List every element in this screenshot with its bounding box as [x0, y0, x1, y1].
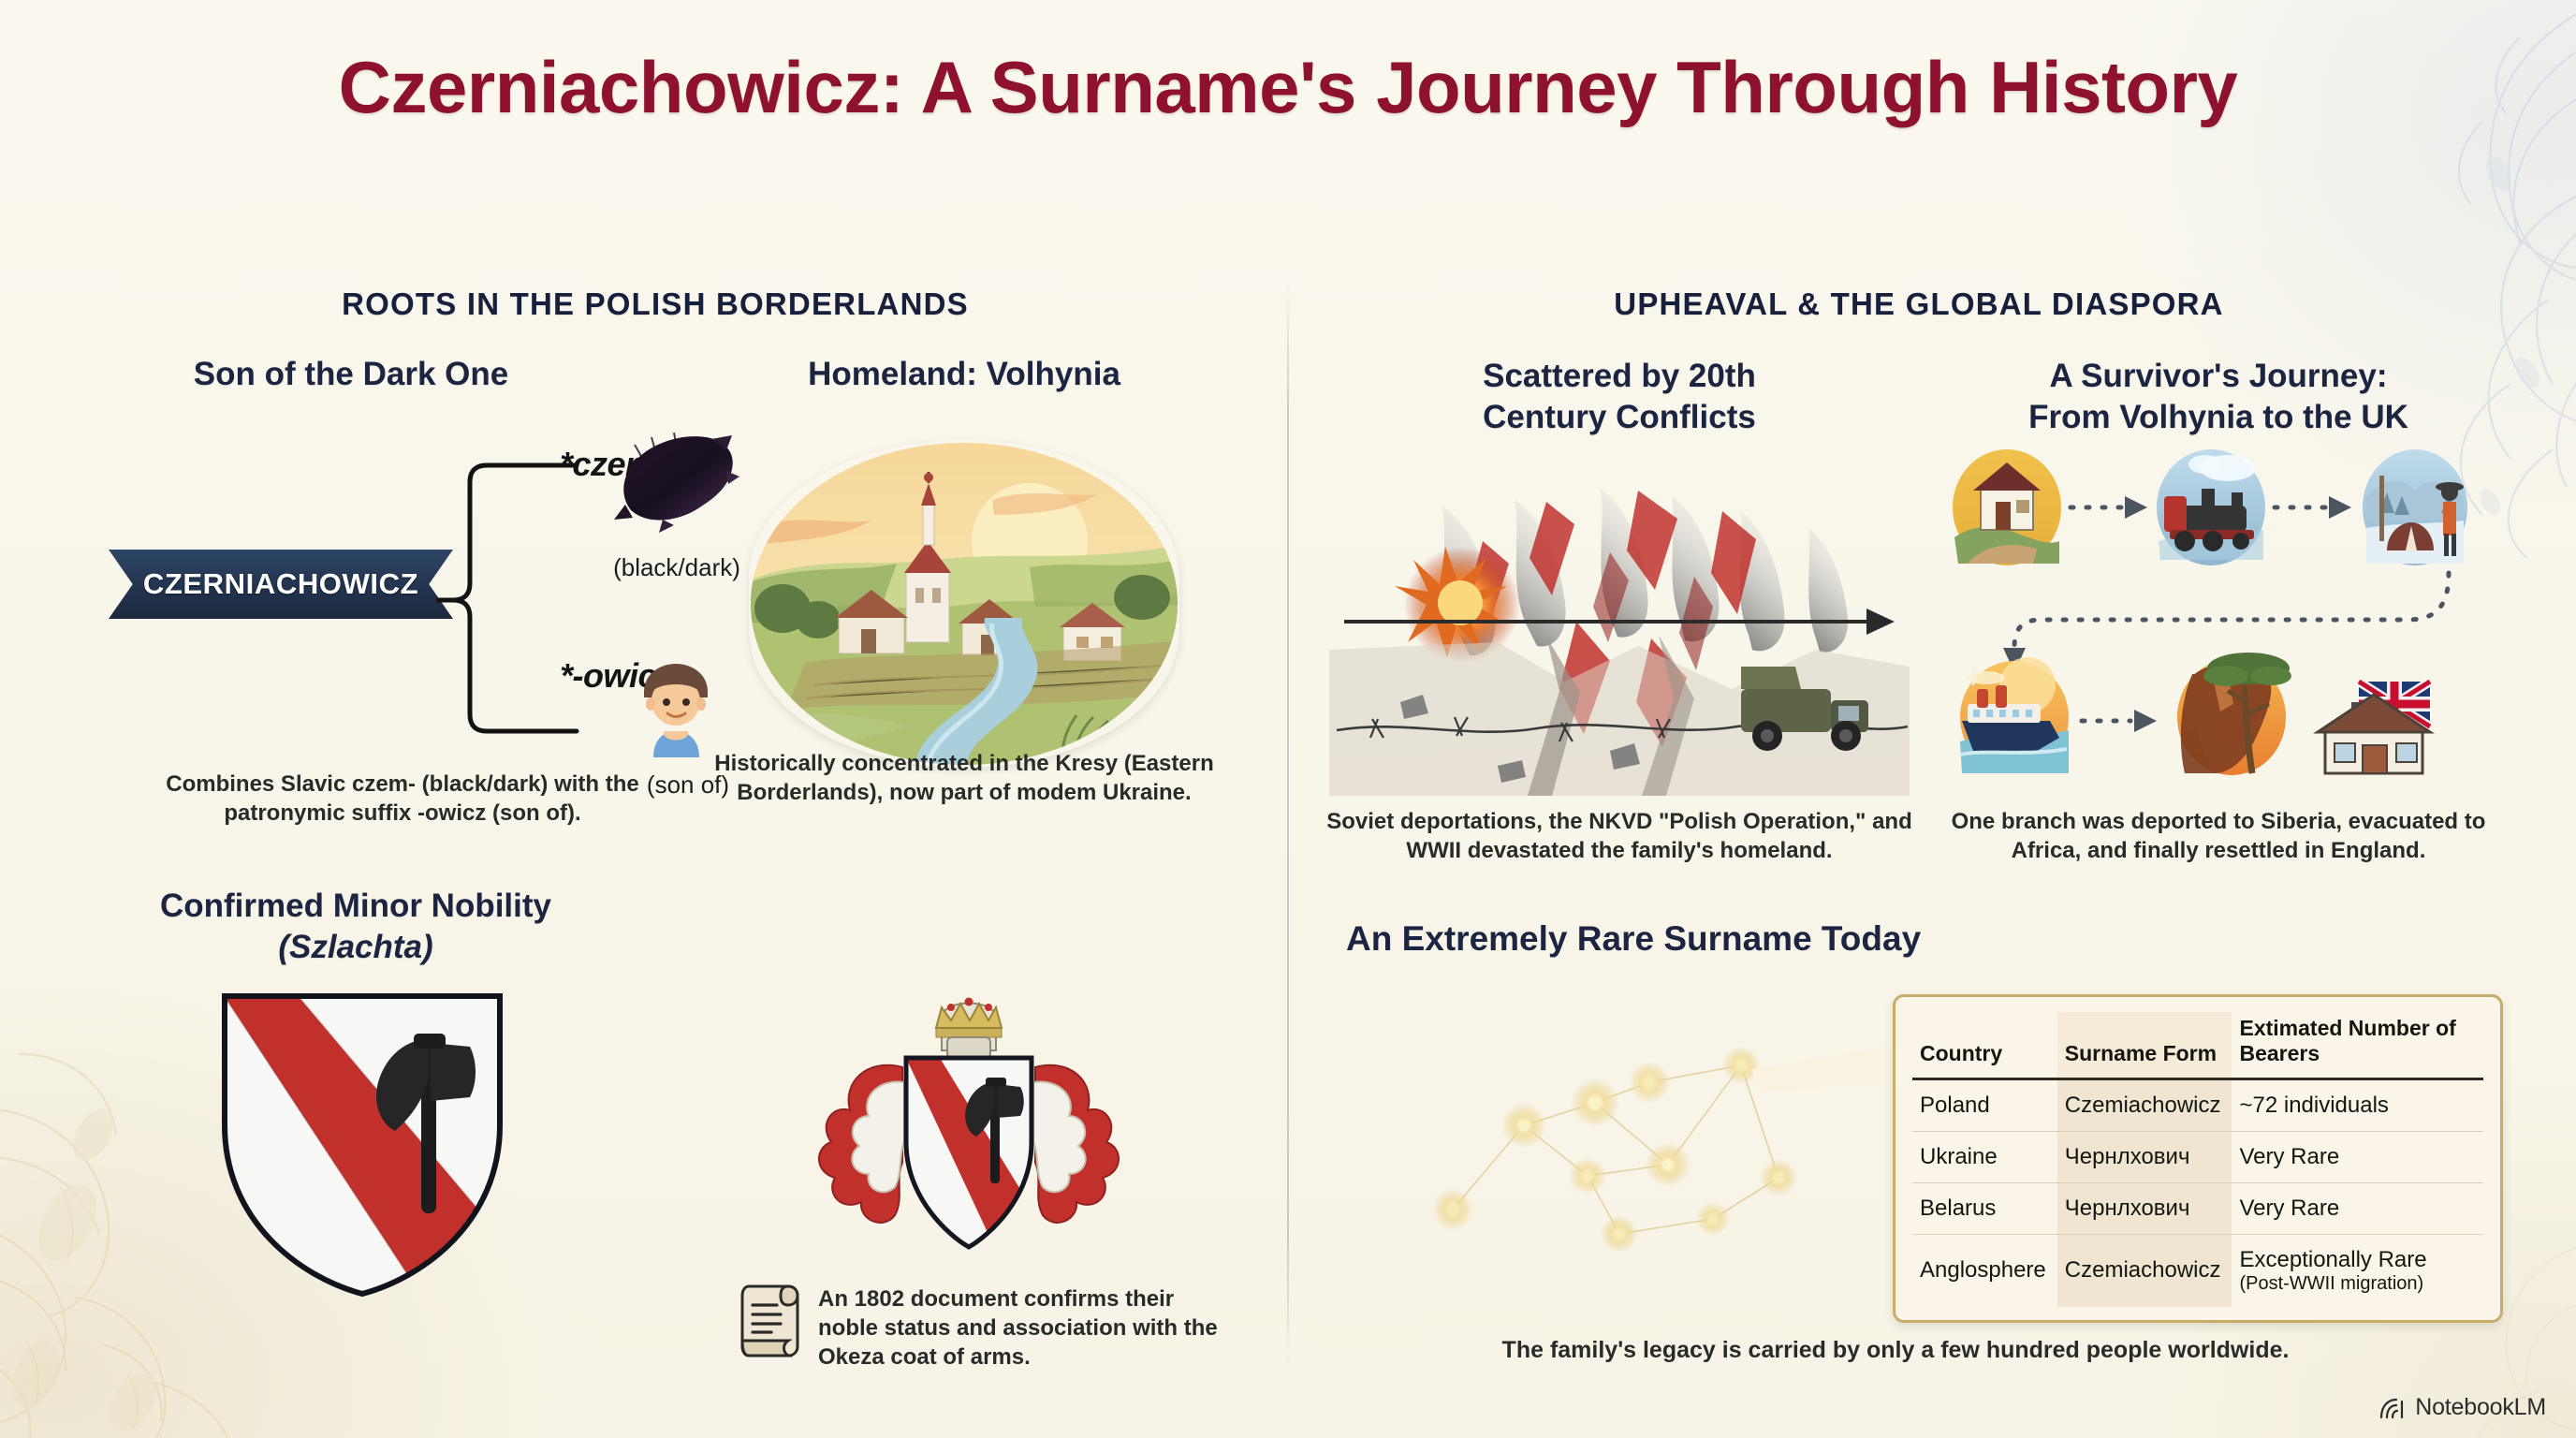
cell-bearers: ~72 individuals	[2232, 1079, 2483, 1132]
cell-bearers: Exceptionally Rare (Post-WWII migration)	[2232, 1234, 2483, 1307]
notebooklm-icon	[2378, 1396, 2407, 1420]
notebooklm-label: NotebookLM	[2415, 1394, 2546, 1421]
subheading-nobility-line2: (Szlachta)	[278, 929, 432, 965]
column-header-bearers: Extimated Number of Bearers	[2232, 1012, 2483, 1079]
cell-country: Ukraine	[1912, 1132, 2057, 1183]
subheading-survivor-line2: From Volhynia to the UK	[2028, 399, 2408, 435]
notebooklm-watermark: NotebookLM	[2378, 1394, 2546, 1421]
cell-country: Belarus	[1912, 1182, 2057, 1234]
ocean-liner-icon	[1960, 657, 2069, 773]
scroll-document-icon	[739, 1281, 805, 1359]
survivor-caption: One branch was deported to Siberia, evac…	[1928, 807, 2509, 865]
volhynia-village-illustration	[749, 440, 1179, 768]
cell-country: Poland	[1912, 1079, 2057, 1132]
table-row: Ukraine Чернлхович Very Rare	[1912, 1132, 2483, 1183]
column-header-surname-form: Surname Form	[2057, 1012, 2232, 1079]
siberia-camp-icon	[2363, 449, 2467, 565]
journey-arrow-wrap	[2014, 573, 2449, 648]
rarity-constellation-graphic	[1404, 1002, 1928, 1283]
okeza-shield-illustration	[208, 985, 517, 1303]
homeland-caption: Historically concentrated in the Kresy (…	[693, 749, 1236, 807]
cell-bearers: Very Rare	[2232, 1182, 2483, 1234]
table-row: Poland Czemiachowicz ~72 individuals	[1912, 1079, 2483, 1132]
rarity-heading: An Extremely Rare Surname Today	[1346, 919, 1921, 959]
cell-surname-form: Czemiachowicz	[2057, 1079, 2232, 1132]
survivor-journey-illustration	[1947, 440, 2490, 777]
section-header-upheaval: UPHEAVAL & THE GLOBAL DIASPORA	[1367, 286, 2471, 322]
africa-tree-icon	[2177, 653, 2291, 775]
cell-bearers-note: (Post-WWII migration)	[2239, 1273, 2472, 1295]
steam-train-icon	[2157, 449, 2265, 565]
column-header-country: Country	[1912, 1012, 2057, 1079]
full-coat-of-arms-illustration	[805, 917, 1133, 1273]
legacy-note: The family's legacy is carried by only a…	[1310, 1337, 2481, 1364]
column-divider	[1287, 281, 1289, 1367]
subheading-nobility-line1: Confirmed Minor Nobility	[160, 888, 551, 924]
cell-country: Anglosphere	[1912, 1234, 2057, 1307]
cell-surname-form: Чернлхович	[2057, 1182, 2232, 1234]
etymology-caption: Combines Slavic czem- (black/dark) with …	[122, 770, 683, 828]
home-icon	[1953, 449, 2061, 565]
etymology-diagram: CZERNIACHOWICZ *czern- *-owicz	[103, 426, 702, 763]
page-title: Czerniachowicz: A Surname's Journey Thro…	[0, 45, 2576, 130]
surname-rarity-table-card: Country Surname Form Extimated Number of…	[1893, 994, 2503, 1323]
uk-house-flag-icon	[2318, 682, 2430, 773]
subheading-son-of-the-dark-one: Son of the Dark One	[103, 354, 599, 395]
ink-blot-icon	[608, 430, 739, 533]
subheading-homeland-volhynia: Homeland: Volhynia	[739, 354, 1189, 395]
section-header-roots: ROOTS IN THE POLISH BORDERLANDS	[103, 286, 1207, 322]
surname-rarity-table: Country Surname Form Extimated Number of…	[1912, 1012, 2483, 1307]
cell-surname-form: Czemiachowicz	[2057, 1234, 2232, 1307]
conflicts-caption: Soviet deportations, the NKVD "Polish Op…	[1320, 807, 1919, 865]
subheading-survivor-line1: A Survivor's Journey:	[2049, 358, 2387, 394]
table-row: Anglosphere Czemiachowicz Exceptionally …	[1912, 1234, 2483, 1307]
cell-bearers: Very Rare	[2232, 1132, 2483, 1183]
document-note-text: An 1802 document confirms their noble st…	[818, 1281, 1226, 1372]
cell-surname-form: Чернлхович	[2057, 1132, 2232, 1183]
infographic-canvas: Czerniachowicz: A Surname's Journey Thro…	[0, 0, 2576, 1438]
table-header-row: Country Surname Form Extimated Number of…	[1912, 1012, 2483, 1079]
cell-bearers-main: Exceptionally Rare	[2239, 1247, 2426, 1272]
table-row: Belarus Чернлхович Very Rare	[1912, 1182, 2483, 1234]
surname-ribbon: CZERNIACHOWICZ	[109, 550, 453, 619]
boy-face-icon	[633, 660, 719, 757]
subheading-conflicts-line1: Scattered by 20th	[1483, 358, 1756, 394]
document-note: An 1802 document confirms their noble st…	[739, 1281, 1226, 1372]
gloss-black-dark: (black/dark)	[578, 553, 775, 582]
war-upheaval-illustration	[1329, 421, 1910, 796]
branch-connector-lines	[436, 443, 586, 752]
